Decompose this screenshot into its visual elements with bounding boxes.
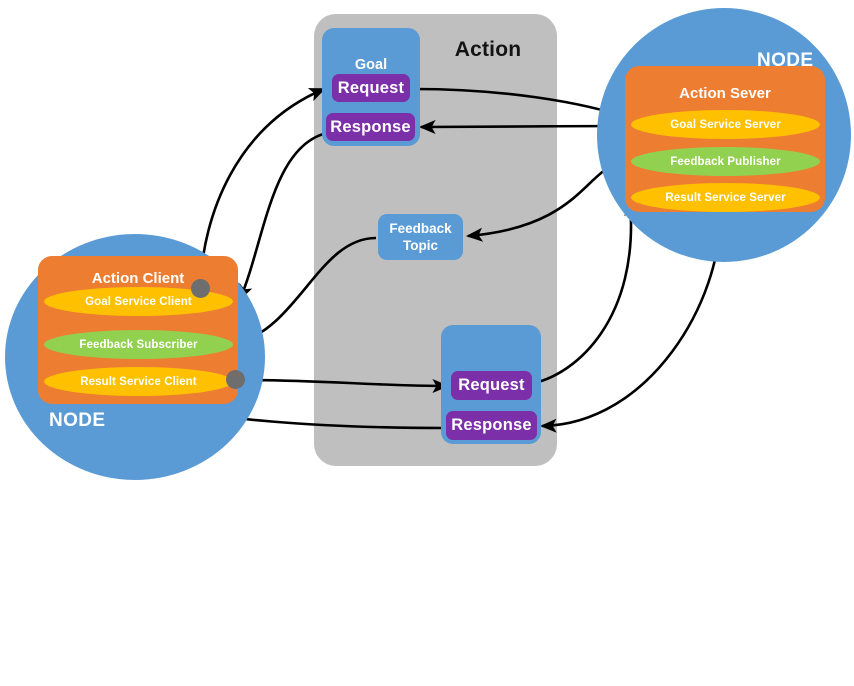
result-service-title-line1: Result (469, 652, 513, 668)
pill-result-service-client[interactable]: Result Service Client (44, 367, 233, 396)
pill-goal-service-server[interactable]: Goal Service Server (631, 110, 820, 139)
goal-service-response[interactable]: Response (326, 113, 415, 141)
action-server-title: Action Sever (625, 85, 825, 102)
pill-feedback-publisher[interactable]: Feedback Publisher (631, 147, 820, 176)
pill-feedback-subscriber[interactable]: Feedback Subscriber (44, 330, 233, 359)
goal-service-title-line1: Goal (355, 57, 387, 73)
action-panel-title: Action (438, 38, 538, 62)
goal-service-request[interactable]: Request (332, 74, 410, 102)
result-service-title-line2: Service (465, 669, 517, 685)
result-service-request[interactable]: Request (451, 371, 532, 400)
pill-result-service-server[interactable]: Result Service Server (631, 183, 820, 212)
result-service-title: Result Service (441, 652, 541, 686)
diagram-canvas: Action Goal Service Request Response Fee… (0, 0, 854, 480)
connector-dot-goal-client (191, 279, 210, 298)
feedback-topic-box[interactable]: Feedback Topic (378, 214, 463, 260)
feedback-topic-line2: Topic (403, 238, 438, 253)
feedback-topic-line1: Feedback (389, 221, 451, 236)
result-service-response[interactable]: Response (446, 411, 537, 440)
client-node-label: NODE (49, 410, 106, 432)
connector-dot-result-client (226, 370, 245, 389)
